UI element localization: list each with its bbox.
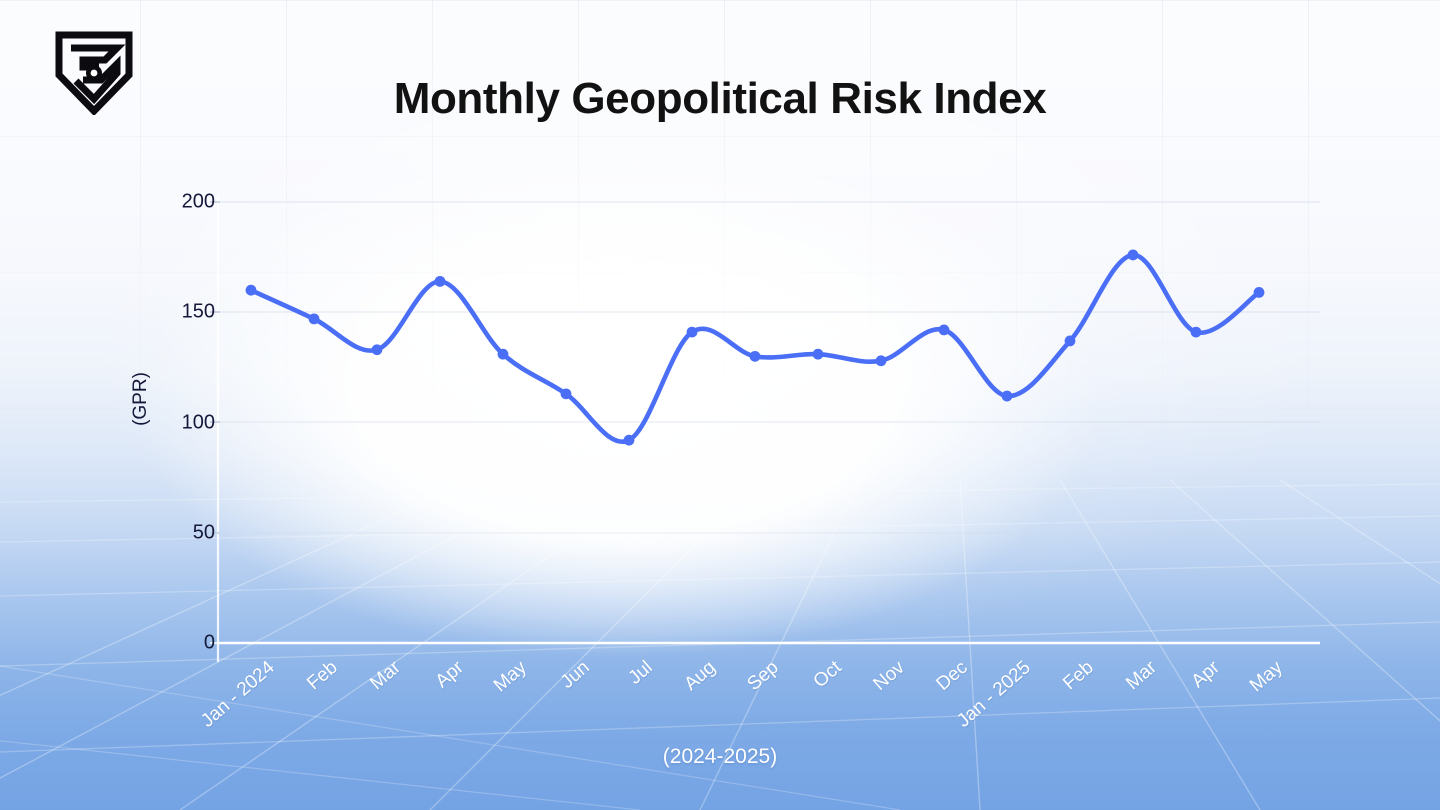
y-axis-tick-label: 150 [145, 301, 215, 324]
data-point-marker[interactable] [687, 327, 698, 338]
data-point-marker[interactable] [372, 344, 383, 355]
y-axis-tick-label: 100 [145, 411, 215, 434]
data-point-marker[interactable] [1254, 287, 1265, 298]
y-axis-tick-label: 0 [145, 632, 215, 655]
data-point-marker[interactable] [309, 313, 320, 324]
y-axis-tick-label: 50 [145, 521, 215, 544]
series-gpr [246, 250, 1265, 446]
line-chart-plot [0, 0, 1440, 810]
chart-canvas: Monthly Geopolitical Risk Index (GPR) 05… [0, 0, 1440, 810]
data-point-marker[interactable] [876, 355, 887, 366]
data-point-marker[interactable] [939, 324, 950, 335]
x-axis-title: (2024-2025) [0, 745, 1440, 769]
data-point-marker[interactable] [1191, 327, 1202, 338]
y-gridlines [218, 202, 1320, 533]
data-point-marker[interactable] [561, 388, 572, 399]
data-point-marker[interactable] [246, 285, 257, 296]
data-point-marker[interactable] [498, 349, 509, 360]
y-axis-tick-label: 200 [145, 191, 215, 214]
y-axis-tick-labels: 050100150200 [145, 0, 215, 810]
series-line [251, 255, 1259, 442]
data-point-marker[interactable] [435, 276, 446, 287]
data-point-marker[interactable] [1002, 391, 1013, 402]
data-point-marker[interactable] [813, 349, 824, 360]
data-point-marker[interactable] [1065, 336, 1076, 347]
series-markers [246, 250, 1265, 446]
axis-lines [218, 196, 1320, 662]
data-point-marker[interactable] [624, 435, 635, 446]
data-point-marker[interactable] [1128, 250, 1139, 261]
data-point-marker[interactable] [750, 351, 761, 362]
